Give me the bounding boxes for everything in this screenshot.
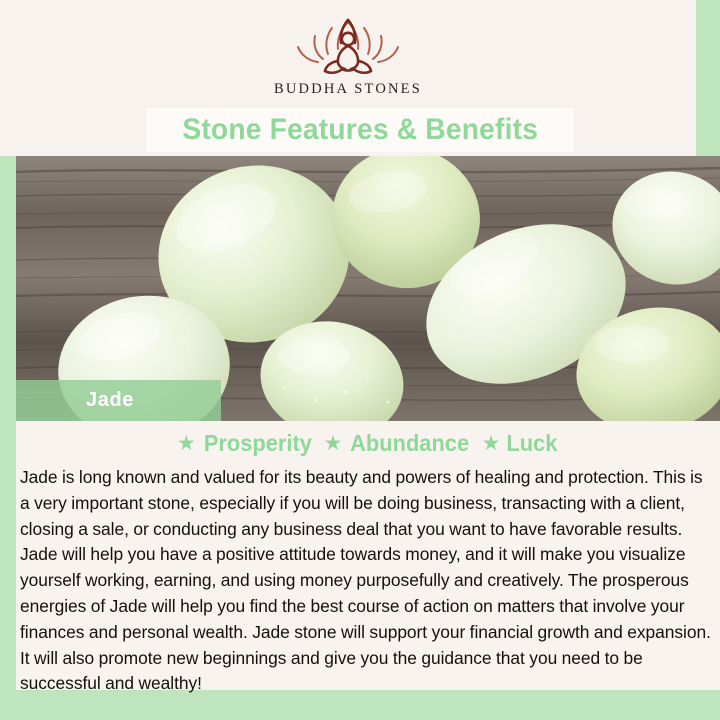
star-icon: ★ [324,433,343,454]
title-banner: Stone Features & Benefits [146,108,574,152]
benefit-label: Abundance [350,430,469,457]
infographic-page: BUDDHA STONES Stone Features & Benefits [0,0,720,720]
page-title: Stone Features & Benefits [182,113,538,147]
photo-caption-band: Jade [16,380,221,421]
lotus-meditation-icon [282,14,414,78]
benefit-item: ★ Abundance [324,430,473,457]
brand-name: BUDDHA STONES [274,81,422,98]
content-panel: ★ Prosperity ★ Abundance ★ Luck Jade is … [16,421,720,690]
benefit-item: ★ Prosperity [177,430,315,457]
star-icon: ★ [177,433,196,454]
star-icon: ★ [482,433,501,454]
brand-logo: BUDDHA STONES [0,14,696,98]
benefit-label: Luck [507,430,558,457]
stone-name-label: Jade [86,389,134,412]
benefit-item: ★ Luck [482,430,560,457]
decor-band-left [0,190,16,720]
decor-band-right [696,0,720,160]
benefits-row: ★ Prosperity ★ Abundance ★ Luck [16,425,720,461]
stone-description: Jade is long known and valued for its be… [20,465,714,697]
benefit-label: Prosperity [204,430,312,457]
